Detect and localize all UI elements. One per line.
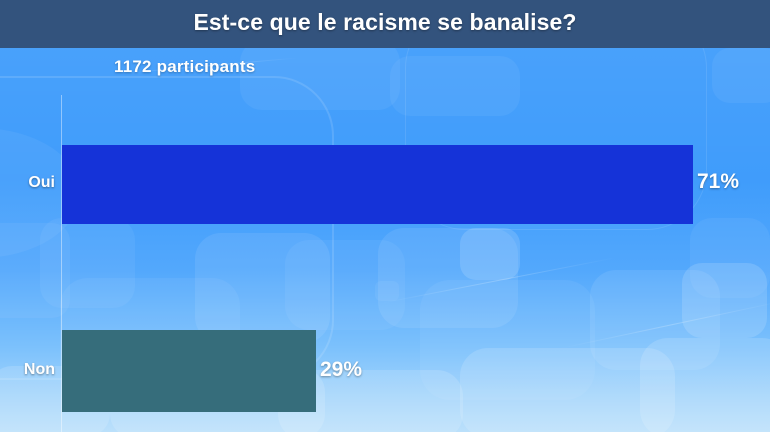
decorative-rounded-rect-7	[378, 228, 518, 328]
decorative-rounded-rect-14	[375, 281, 399, 301]
decorative-rounded-rect-6	[285, 240, 405, 330]
decorative-rounded-rect-11	[682, 263, 767, 338]
bar-non	[62, 330, 316, 412]
decorative-streak-2	[560, 300, 770, 349]
bar-oui	[62, 145, 693, 224]
decorative-rounded-rect-5	[195, 233, 330, 343]
chart-stage: 1172 participants Oui 71% Non 29%	[0, 48, 770, 432]
decorative-rounded-rect-8	[420, 280, 595, 400]
decorative-streak-1	[380, 257, 616, 304]
decorative-rounded-rect-23	[390, 56, 520, 116]
decorative-rounded-rect-22	[240, 48, 400, 110]
bar-label-non: Non	[0, 361, 55, 379]
participants-count-label: 1172 participants	[114, 57, 255, 77]
decorative-rounded-rect-20	[460, 348, 675, 432]
decorative-rounded-rect-2	[0, 223, 70, 318]
decorative-rounded-rect-12	[690, 218, 770, 298]
bar-label-oui: Oui	[0, 174, 55, 192]
decorative-rounded-rect-3	[40, 218, 135, 308]
header-bar: Est-ce que le racisme se banalise?	[0, 0, 770, 48]
decorative-rounded-rect-13	[712, 48, 770, 103]
decorative-rounded-rect-9	[460, 228, 520, 280]
bar-value-oui: 71%	[697, 170, 739, 194]
bar-value-non: 29%	[320, 358, 362, 382]
poll-result-screen: Est-ce que le racisme se banalise?	[0, 0, 770, 432]
decorative-rounded-rect-21	[640, 338, 770, 432]
page-title: Est-ce que le racisme se banalise?	[0, 0, 770, 48]
decorative-rounded-rect-10	[590, 270, 720, 370]
